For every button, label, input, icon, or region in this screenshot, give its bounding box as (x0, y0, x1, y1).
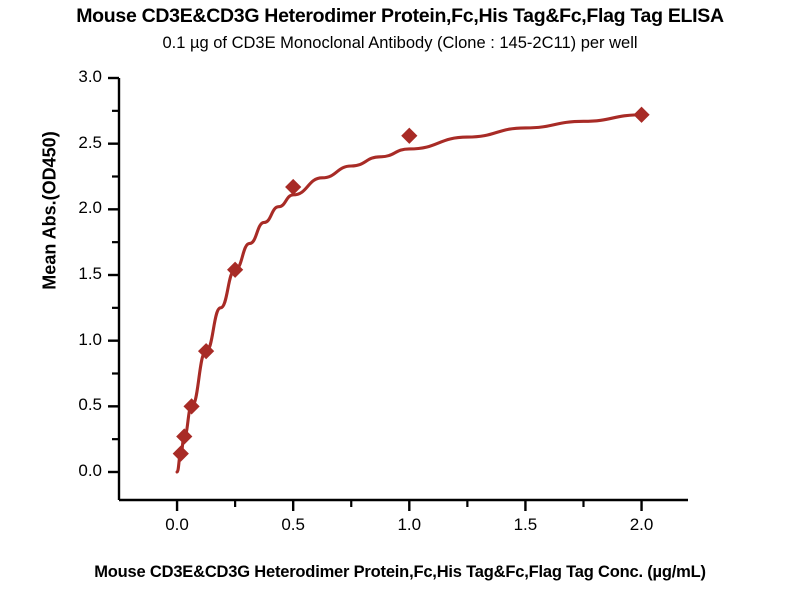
y-axis-tick-label: 1.5 (42, 264, 102, 284)
data-point-marker (402, 128, 417, 143)
x-axis-tick-label: 1.5 (495, 515, 555, 535)
plot-svg (0, 0, 800, 600)
x-axis-tick-label: 0.0 (147, 515, 207, 535)
y-axis-tick-label: 2.0 (42, 198, 102, 218)
y-axis-tick-label: 0.0 (42, 461, 102, 481)
x-axis-tick-label: 2.0 (612, 515, 672, 535)
y-axis-tick-label: 3.0 (42, 67, 102, 87)
data-point-marker (177, 429, 192, 444)
y-axis-tick-label: 2.5 (42, 133, 102, 153)
data-point-marker (184, 399, 199, 414)
x-axis-tick-label: 0.5 (263, 515, 323, 535)
y-axis-tick-label: 1.0 (42, 330, 102, 350)
fit-curve (177, 115, 641, 472)
x-axis-tick-label: 1.0 (379, 515, 439, 535)
data-point-marker (634, 107, 649, 122)
plot-area: 0.00.51.01.52.02.53.00.00.51.01.52.0 (0, 0, 800, 600)
y-axis-tick-label: 0.5 (42, 395, 102, 415)
data-point-marker (286, 180, 301, 195)
data-point-marker (173, 446, 188, 461)
